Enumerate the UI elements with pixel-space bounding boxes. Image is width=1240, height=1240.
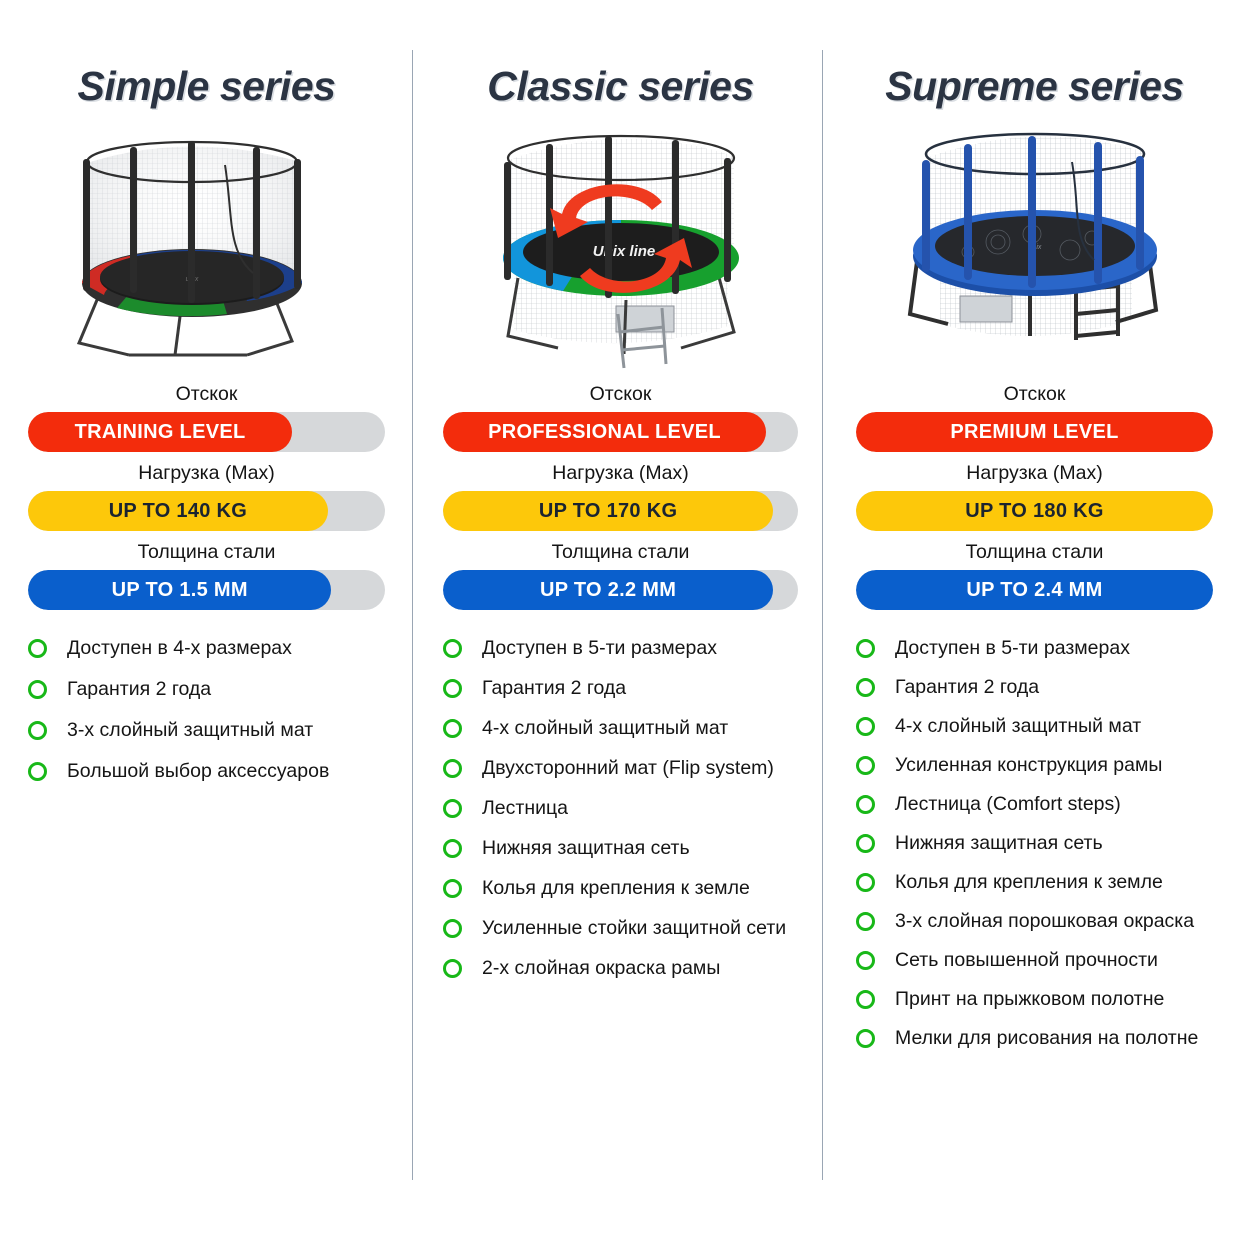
metric-group-bounce: Отскок PREMIUM LEVEL <box>856 383 1213 452</box>
feature-item: Мелки для рисования на полотне <box>856 1026 1213 1051</box>
check-circle-icon <box>856 1029 875 1048</box>
feature-label: 4-х слойный защитный мат <box>895 714 1141 739</box>
feature-label: Нижняя защитная сеть <box>482 836 690 861</box>
metric-group-steel: Толщина стали UP TO 1.5 MM <box>28 541 385 610</box>
metric-track-steel: UP TO 2.2 MM <box>443 570 798 610</box>
check-circle-icon <box>443 879 462 898</box>
feature-item: Усиленная конструкция рамы <box>856 753 1213 778</box>
check-circle-icon <box>856 951 875 970</box>
check-circle-icon <box>443 639 462 658</box>
metric-label-load: Нагрузка (Max) <box>443 462 798 485</box>
feature-label: Гарантия 2 года <box>482 676 626 701</box>
series-column-simple: Simple series <box>0 0 413 1240</box>
metric-value-steel: UP TO 2.4 MM <box>966 579 1102 602</box>
trampoline-simple-image: unix <box>28 118 385 373</box>
metric-value-bounce: TRAINING LEVEL <box>75 421 246 444</box>
feature-item: Гарантия 2 года <box>28 677 385 702</box>
metric-label-steel: Толщина стали <box>443 541 798 564</box>
check-circle-icon <box>856 912 875 931</box>
series-title-supreme: Supreme series <box>856 63 1213 110</box>
check-circle-icon <box>856 717 875 736</box>
feature-item: Двухсторонний мат (Flip system) <box>443 756 798 781</box>
metric-label-load: Нагрузка (Max) <box>28 462 385 485</box>
feature-label: Доступен в 4-х размерах <box>67 636 292 661</box>
feature-label: Доступен в 5-ти размерах <box>482 636 717 661</box>
check-circle-icon <box>28 721 47 740</box>
check-circle-icon <box>856 990 875 1009</box>
metric-value-steel: UP TO 1.5 MM <box>112 579 248 602</box>
metric-fill-steel: UP TO 2.2 MM <box>443 570 773 610</box>
check-circle-icon <box>443 959 462 978</box>
feature-label: Принт на прыжковом полотне <box>895 987 1164 1012</box>
metric-label-steel: Толщина стали <box>28 541 385 564</box>
feature-label: 2-х слойная окраска рамы <box>482 956 720 981</box>
metric-track-bounce: PREMIUM LEVEL <box>856 412 1213 452</box>
check-circle-icon <box>856 873 875 892</box>
metric-track-steel: UP TO 2.4 MM <box>856 570 1213 610</box>
feature-label: Двухсторонний мат (Flip system) <box>482 756 774 781</box>
feature-label: Доступен в 5-ти размерах <box>895 636 1130 661</box>
metric-group-bounce: Отскок PROFESSIONAL LEVEL <box>443 383 798 452</box>
metric-group-steel: Толщина стали UP TO 2.2 MM <box>443 541 798 610</box>
feature-item: 4-х слойный защитный мат <box>856 714 1213 739</box>
metric-group-bounce: Отскок TRAINING LEVEL <box>28 383 385 452</box>
trampoline-classic-image: Unix line <box>443 118 798 373</box>
check-circle-icon <box>443 679 462 698</box>
feature-item: 4-х слойный защитный мат <box>443 716 798 741</box>
feature-item: Усиленные стойки защитной сети <box>443 916 798 941</box>
check-circle-icon <box>856 678 875 697</box>
metric-fill-load: UP TO 180 KG <box>856 491 1213 531</box>
metric-fill-steel: UP TO 1.5 MM <box>28 570 331 610</box>
check-circle-icon <box>28 762 47 781</box>
metric-fill-bounce: PREMIUM LEVEL <box>856 412 1213 452</box>
feature-item: Лестница <box>443 796 798 821</box>
metric-fill-bounce: PROFESSIONAL LEVEL <box>443 412 766 452</box>
metric-label-steel: Толщина стали <box>856 541 1213 564</box>
metric-fill-steel: UP TO 2.4 MM <box>856 570 1213 610</box>
feature-item: 2-х слойная окраска рамы <box>443 956 798 981</box>
feature-item: Колья для крепления к земле <box>856 870 1213 895</box>
metric-group-load: Нагрузка (Max) UP TO 170 KG <box>443 462 798 531</box>
feature-label: Большой выбор аксессуаров <box>67 759 329 784</box>
metric-track-load: UP TO 180 KG <box>856 491 1213 531</box>
feature-item: Сеть повышенной прочности <box>856 948 1213 973</box>
metric-value-bounce: PROFESSIONAL LEVEL <box>488 421 721 444</box>
metric-value-bounce: PREMIUM LEVEL <box>950 421 1118 444</box>
feature-label: Лестница (Comfort steps) <box>895 792 1121 817</box>
check-circle-icon <box>443 839 462 858</box>
check-circle-icon <box>28 639 47 658</box>
feature-label: 3-х слойный защитный мат <box>67 718 313 743</box>
metric-fill-load: UP TO 140 KG <box>28 491 328 531</box>
feature-list-classic: Доступен в 5-ти размерахГарантия 2 года4… <box>443 636 798 981</box>
check-circle-icon <box>443 919 462 938</box>
feature-list-supreme: Доступен в 5-ти размерахГарантия 2 года4… <box>856 636 1213 1051</box>
feature-label: Мелки для рисования на полотне <box>895 1026 1198 1051</box>
brand-mark: Unix line <box>592 243 655 260</box>
series-column-supreme: Supreme series <box>826 0 1239 1240</box>
feature-item: Нижняя защитная сеть <box>443 836 798 861</box>
series-title-classic: Classic series <box>443 63 798 110</box>
check-circle-icon <box>28 680 47 699</box>
metric-track-load: UP TO 170 KG <box>443 491 798 531</box>
feature-list-simple: Доступен в 4-х размерахГарантия 2 года3-… <box>28 636 385 784</box>
feature-label: Усиленная конструкция рамы <box>895 753 1162 778</box>
check-circle-icon <box>856 639 875 658</box>
series-column-classic: Classic series <box>413 0 826 1240</box>
feature-label: Усиленные стойки защитной сети <box>482 916 786 941</box>
feature-label: Гарантия 2 года <box>67 677 211 702</box>
feature-item: Лестница (Comfort steps) <box>856 792 1213 817</box>
feature-label: 3-х слойная порошковая окраска <box>895 909 1194 934</box>
metric-fill-bounce: TRAINING LEVEL <box>28 412 292 452</box>
feature-label: Сеть повышенной прочности <box>895 948 1158 973</box>
metric-label-bounce: Отскок <box>443 383 798 406</box>
feature-label: 4-х слойный защитный мат <box>482 716 728 741</box>
check-circle-icon <box>443 799 462 818</box>
feature-item: Доступен в 4-х размерах <box>28 636 385 661</box>
feature-item: 3-х слойная порошковая окраска <box>856 909 1213 934</box>
metric-value-load: UP TO 140 KG <box>109 500 247 523</box>
comparison-board: Simple series <box>0 0 1240 1240</box>
metric-label-load: Нагрузка (Max) <box>856 462 1213 485</box>
feature-label: Колья для крепления к земле <box>482 876 750 901</box>
metric-label-bounce: Отскок <box>28 383 385 406</box>
feature-item: Доступен в 5-ти размерах <box>443 636 798 661</box>
feature-label: Колья для крепления к земле <box>895 870 1163 895</box>
feature-item: 3-х слойный защитный мат <box>28 718 385 743</box>
feature-item: Гарантия 2 года <box>443 676 798 701</box>
feature-item: Колья для крепления к земле <box>443 876 798 901</box>
feature-label: Лестница <box>482 796 568 821</box>
check-circle-icon <box>856 756 875 775</box>
feature-label: Гарантия 2 года <box>895 675 1039 700</box>
metric-value-load: UP TO 170 KG <box>539 500 677 523</box>
metric-track-bounce: TRAINING LEVEL <box>28 412 385 452</box>
feature-label: Нижняя защитная сеть <box>895 831 1103 856</box>
metric-group-load: Нагрузка (Max) UP TO 140 KG <box>28 462 385 531</box>
metric-track-steel: UP TO 1.5 MM <box>28 570 385 610</box>
metric-label-bounce: Отскок <box>856 383 1213 406</box>
metric-group-load: Нагрузка (Max) UP TO 180 KG <box>856 462 1213 531</box>
check-circle-icon <box>443 719 462 738</box>
series-title-simple: Simple series <box>28 63 385 110</box>
metric-value-load: UP TO 180 KG <box>965 500 1103 523</box>
check-circle-icon <box>856 795 875 814</box>
metric-group-steel: Толщина стали UP TO 2.4 MM <box>856 541 1213 610</box>
trampoline-supreme-image: unix <box>856 118 1213 373</box>
feature-item: Гарантия 2 года <box>856 675 1213 700</box>
check-circle-icon <box>443 759 462 778</box>
feature-item: Нижняя защитная сеть <box>856 831 1213 856</box>
feature-item: Большой выбор аксессуаров <box>28 759 385 784</box>
check-circle-icon <box>856 834 875 853</box>
metric-fill-load: UP TO 170 KG <box>443 491 773 531</box>
feature-item: Принт на прыжковом полотне <box>856 987 1213 1012</box>
metric-track-bounce: PROFESSIONAL LEVEL <box>443 412 798 452</box>
metric-value-steel: UP TO 2.2 MM <box>540 579 676 602</box>
metric-track-load: UP TO 140 KG <box>28 491 385 531</box>
feature-item: Доступен в 5-ти размерах <box>856 636 1213 661</box>
